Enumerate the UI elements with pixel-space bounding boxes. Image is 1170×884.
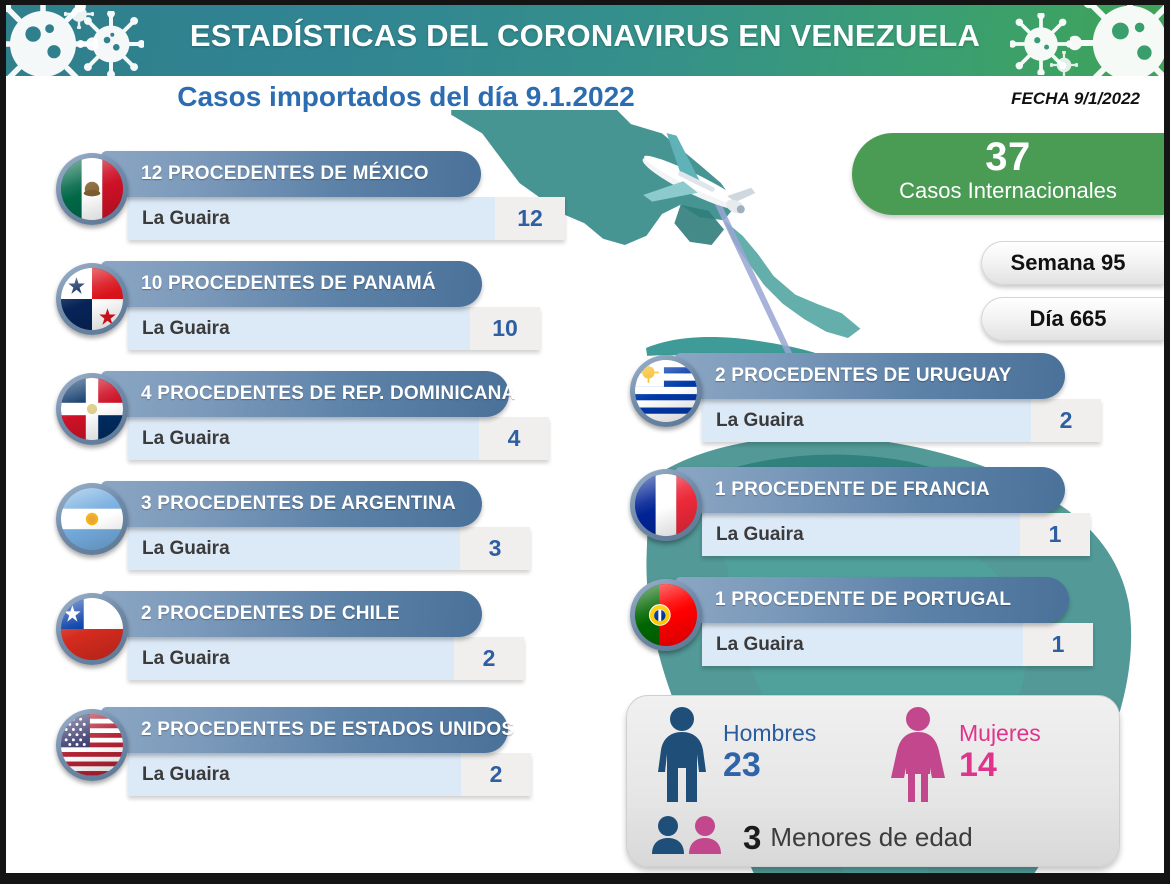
region-count: 10 [470, 307, 540, 350]
header-banner: ESTADÍSTICAS DEL CORONAVIRUS EN VENEZUEL… [6, 5, 1164, 76]
coronavirus-particle-icon [1070, 5, 1164, 76]
total-international-cases-badge: 37 Casos Internacionales [852, 133, 1164, 215]
card-detail-row: La Guaira 1 [702, 513, 1090, 556]
flag-uruguay-icon [635, 360, 697, 422]
card-title: 2 PROCEDENTES DE CHILE [101, 603, 422, 625]
card-detail-row: La Guaira 10 [128, 307, 540, 350]
region-name: La Guaira [702, 623, 1023, 666]
children-pair-icon [649, 814, 731, 861]
region-name: La Guaira [128, 307, 470, 350]
page-title: ESTADÍSTICAS DEL CORONAVIRUS EN VENEZUEL… [6, 18, 1164, 54]
card-header: 1 PROCEDENTE DE FRANCIA [675, 467, 1065, 513]
region-name: La Guaira [128, 527, 460, 570]
flag-portugal-icon [635, 584, 697, 646]
flag-badge [56, 483, 128, 555]
card-title: 2 PROCEDENTES DE ESTADOS UNIDOS [101, 719, 536, 741]
region-name: La Guaira [702, 513, 1020, 556]
region-name: La Guaira [128, 753, 461, 796]
subtitle: Casos importados del día 9.1.2022 [6, 81, 806, 113]
day-pill: Día 665 [981, 297, 1164, 341]
card-title: 12 PROCEDENTES DE MÉXICO [101, 163, 451, 185]
card-detail-row: La Guaira 4 [128, 417, 549, 460]
region-count: 2 [461, 753, 531, 796]
demographics-panel: Hombres 23 Mujeres 14 [626, 695, 1120, 867]
men-stat-group: Hombres 23 [649, 706, 816, 811]
card-title: 1 PROCEDENTE DE FRANCIA [675, 479, 1012, 501]
flag-united-states-icon [61, 714, 123, 776]
card-detail-row: La Guaira 2 [128, 637, 524, 680]
card-detail-row: La Guaira 1 [702, 623, 1093, 666]
region-name: La Guaira [128, 417, 479, 460]
total-cases-label: Casos Internacionales [852, 178, 1164, 204]
flag-chile-icon [61, 598, 123, 660]
women-count: 14 [959, 746, 1041, 784]
card-header: 4 PROCEDENTES DE REP. DOMINICANA [101, 371, 509, 417]
flag-badge [630, 355, 702, 427]
region-name: La Guaira [128, 197, 495, 240]
date-label: FECHA 9/1/2022 [1011, 89, 1140, 109]
region-count: 2 [1031, 399, 1101, 442]
flag-mexico-icon [61, 158, 123, 220]
card-detail-row: La Guaira 2 [702, 399, 1101, 442]
flag-dominican-republic-icon [61, 378, 123, 440]
card-detail-row: La Guaira 2 [128, 753, 531, 796]
coronavirus-particle-icon [1050, 51, 1078, 76]
flag-badge [56, 593, 128, 665]
female-figure-icon [885, 706, 951, 811]
card-header: 2 PROCEDENTES DE ESTADOS UNIDOS [101, 707, 508, 753]
image-frame: ESTADÍSTICAS DEL CORONAVIRUS EN VENEZUEL… [0, 0, 1170, 884]
airplane-icon [624, 132, 764, 237]
card-header: 2 PROCEDENTES DE URUGUAY [675, 353, 1065, 399]
card-detail-row: La Guaira 3 [128, 527, 530, 570]
card-title: 1 PROCEDENTE DE PORTUGAL [675, 589, 1033, 611]
women-stat-group: Mujeres 14 [885, 706, 1041, 811]
card-header: 12 PROCEDENTES DE MÉXICO [101, 151, 481, 197]
card-title: 2 PROCEDENTES DE URUGUAY [675, 365, 1034, 387]
total-cases-number: 37 [852, 136, 1164, 178]
women-text-group: Mujeres 14 [951, 706, 1041, 784]
region-name: La Guaira [128, 637, 454, 680]
region-count: 3 [460, 527, 530, 570]
card-title: 3 PROCEDENTES DE ARGENTINA [101, 493, 478, 515]
region-name: La Guaira [702, 399, 1031, 442]
flag-badge [630, 579, 702, 651]
flag-badge [56, 373, 128, 445]
card-title: 4 PROCEDENTES DE REP. DOMINICANA [101, 383, 538, 405]
card-detail-row: La Guaira 12 [128, 197, 565, 240]
men-text-group: Hombres 23 [715, 706, 816, 784]
region-count: 1 [1023, 623, 1093, 666]
minors-label: Menores de edad [761, 822, 972, 853]
card-header: 2 PROCEDENTES DE CHILE [101, 591, 482, 637]
region-count: 12 [495, 197, 565, 240]
card-header: 3 PROCEDENTES DE ARGENTINA [101, 481, 482, 527]
week-pill: Semana 95 [981, 241, 1164, 285]
women-label: Mujeres [959, 720, 1041, 746]
flag-badge [630, 469, 702, 541]
card-title: 10 PROCEDENTES DE PANAMÁ [101, 273, 458, 295]
flag-france-icon [635, 474, 697, 536]
region-count: 2 [454, 637, 524, 680]
flag-badge [56, 153, 128, 225]
men-count: 23 [723, 746, 816, 784]
flag-argentina-icon [61, 488, 123, 550]
card-header: 10 PROCEDENTES DE PANAMÁ [101, 261, 482, 307]
men-label: Hombres [723, 720, 816, 746]
infographic-canvas: ESTADÍSTICAS DEL CORONAVIRUS EN VENEZUEL… [6, 5, 1164, 873]
flag-badge [56, 263, 128, 335]
region-count: 1 [1020, 513, 1090, 556]
flag-panama-icon [61, 268, 123, 330]
minors-stat-group: 3 Menores de edad [649, 814, 973, 861]
card-header: 1 PROCEDENTE DE PORTUGAL [675, 577, 1069, 623]
minors-count: 3 [731, 819, 761, 857]
flag-badge [56, 709, 128, 781]
region-count: 4 [479, 417, 549, 460]
male-figure-icon [649, 706, 715, 811]
